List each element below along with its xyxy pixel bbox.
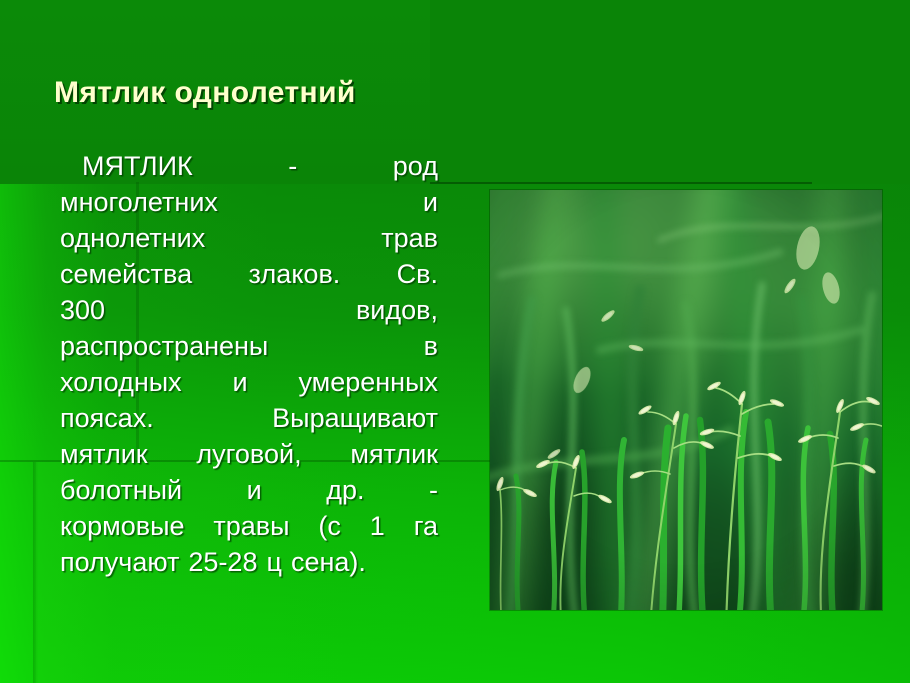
body-word: 300 (60, 292, 105, 328)
body-word: Выращивают (272, 400, 438, 436)
body-line: холодныхиумеренных (60, 364, 438, 400)
body-word: МЯТЛИК (82, 148, 193, 184)
grass-photo (490, 190, 882, 610)
photo-vignette (490, 190, 882, 610)
slide-title: Мятлик однолетний (54, 76, 356, 110)
body-line: однолетнихтрав (60, 220, 438, 256)
body-word: 1 (370, 508, 385, 544)
body-word: трав (381, 220, 438, 256)
body-line: болотныйидр.- (60, 472, 438, 508)
body-word: и (247, 472, 262, 508)
body-word: болотный (60, 472, 182, 508)
body-word: многолетних (60, 184, 218, 220)
body-word: мятлик (60, 436, 148, 472)
body-word: холодных (60, 364, 182, 400)
body-word: (с (318, 508, 341, 544)
body-word: 25-28 (188, 544, 257, 580)
body-word: др. (326, 472, 364, 508)
body-word: луговой, (196, 436, 301, 472)
body-line: распространеныв (60, 328, 438, 364)
body-word: получают (60, 544, 179, 580)
body-line: многолетнихи (60, 184, 438, 220)
body-word: - (429, 472, 438, 508)
body-word: в (424, 328, 438, 364)
body-line: МЯТЛИК-род (60, 148, 438, 184)
body-line: мятликлуговой,мятлик (60, 436, 438, 472)
divider-horizontal-right (430, 182, 812, 184)
body-word: и (233, 364, 248, 400)
body-word: злаков. (248, 256, 340, 292)
body-line: поясах.Выращивают (60, 400, 438, 436)
body-line: 300видов, (60, 292, 438, 328)
body-word: однолетних (60, 220, 205, 256)
body-word: сена). (291, 544, 366, 580)
body-word: травы (213, 508, 289, 544)
body-word: род (393, 148, 438, 184)
body-word: видов, (356, 292, 438, 328)
body-line: семействазлаков.Св. (60, 256, 438, 292)
body-word: умеренных (298, 364, 438, 400)
body-word: и (423, 184, 438, 220)
body-word: ц (266, 544, 281, 580)
body-line: кормовыетравы(с1га (60, 508, 438, 544)
body-word: кормовые (60, 508, 185, 544)
body-word: Св. (397, 256, 438, 292)
body-word: - (288, 148, 297, 184)
body-line: получают25-28цсена). (60, 544, 438, 580)
body-word: мятлик (350, 436, 438, 472)
body-word: поясах. (60, 400, 154, 436)
slide-body-text: МЯТЛИК-родмноголетнихиоднолетнихтравсеме… (60, 148, 438, 580)
slide-background-top-right (430, 0, 910, 184)
body-word: семейства (60, 256, 192, 292)
body-word: га (414, 508, 438, 544)
grass-photo-canvas (490, 190, 882, 610)
body-word: распространены (60, 328, 268, 364)
presentation-slide: Мятлик однолетний МЯТЛИК-родмноголетнихи… (0, 0, 910, 683)
